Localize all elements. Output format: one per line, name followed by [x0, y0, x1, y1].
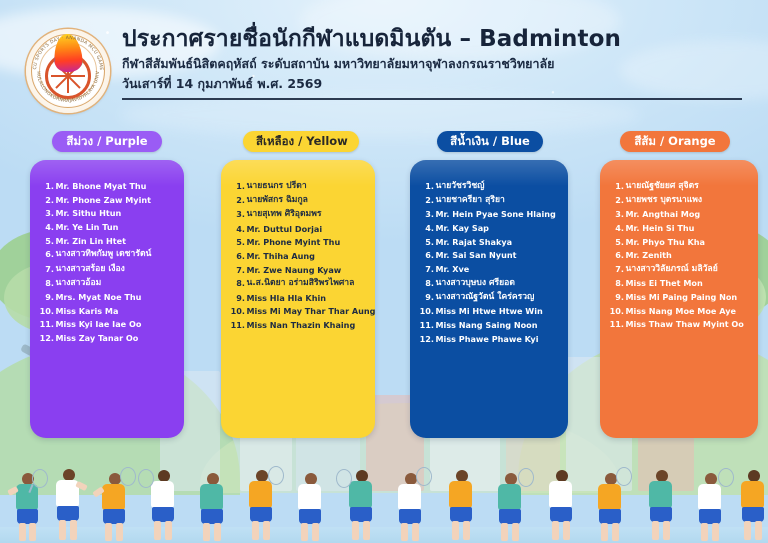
- member-name: Miss Zay Tanar Oo: [56, 334, 177, 342]
- member-name: นายพชร บุตรนาแพง: [626, 196, 751, 205]
- member-name: นางสาวบุษบง ศรียอด: [436, 279, 561, 288]
- team-member-list-blue: 1.นายวัชรวิชญ์2.นายชาครียา สุริยา3.Mr. H…: [410, 160, 568, 358]
- team-chip-yellow[interactable]: สีเหลือง / Yellow: [243, 131, 359, 152]
- member-row: 6.Mr. Thiha Aung: [229, 252, 367, 260]
- member-name: Mr. Thiha Aung: [247, 252, 368, 260]
- member-row: 9.Miss Mi Paing Paing Non: [608, 293, 750, 301]
- member-index: 3.: [38, 209, 54, 217]
- member-name: นางสาวณัฐวัตน์ ใคร่ครวญ: [436, 293, 561, 302]
- athlete-figure: [438, 469, 490, 541]
- member-row: 11.Miss Thaw Thaw Myint Oo: [608, 320, 750, 328]
- emblem-arc-text: MCU SPORTS DAY · ANANDA MCU GAMES MAHACH…: [26, 29, 110, 113]
- page-title: ประกาศรายชื่อนักกีฬาแบดมินตัน – Badminto…: [122, 26, 742, 53]
- member-index: 6.: [608, 251, 624, 259]
- member-row: 12.Miss Zay Tanar Oo: [38, 334, 176, 342]
- member-index: 10.: [418, 307, 434, 315]
- member-name: Mr. Bhone Myat Thu: [56, 182, 177, 190]
- member-index: 9.: [608, 293, 624, 301]
- member-name: Miss Nan Thazin Khaing: [247, 321, 368, 329]
- member-row: 5.Mr. Phyo Thu Kha: [608, 238, 750, 246]
- member-name: นายณัฐชัยยศ สุจิตร: [626, 182, 751, 191]
- member-index: 9.: [229, 294, 245, 302]
- member-name: Miss Mi Paing Paing Non: [626, 293, 751, 301]
- member-index: 2.: [229, 196, 245, 204]
- member-row: 3.Mr. Hein Pyae Sone Hlaing: [418, 210, 560, 218]
- member-index: 7.: [418, 265, 434, 273]
- member-index: 4.: [38, 223, 54, 231]
- member-name: น.ส.นิตยา อร่ามสิริพรไพศาล: [247, 279, 368, 288]
- member-index: 11.: [229, 321, 245, 329]
- member-row: 11.Miss Kyi Iae Iae Oo: [38, 320, 176, 328]
- athlete-figure: [238, 469, 290, 541]
- member-name: Miss Kyi Iae Iae Oo: [56, 320, 177, 328]
- member-row: 6.Mr. Zenith: [608, 251, 750, 259]
- member-index: 6.: [38, 250, 54, 258]
- member-name: Miss Nang Moe Moe Aye: [626, 307, 751, 315]
- member-index: 7.: [38, 265, 54, 273]
- member-name: Mr. Phyo Thu Kha: [626, 238, 751, 246]
- member-row: 2.นายชาครียา สุริยา: [418, 196, 560, 205]
- team-chip-blue[interactable]: สีน้ำเงิน / Blue: [437, 131, 543, 152]
- member-index: 6.: [229, 252, 245, 260]
- member-name: นางสาวทิพกัมพู เดชารัตน์: [56, 250, 177, 259]
- member-index: 12.: [38, 334, 54, 342]
- member-row: 12.Miss Phawe Phawe Kyi: [418, 335, 560, 343]
- member-name: Mr. Phone Myint Thu: [247, 238, 368, 246]
- member-row: 9.Miss Hla Hla Khin: [229, 294, 367, 302]
- member-index: 1.: [608, 182, 624, 190]
- poster-header: MCU SPORTS DAY · ANANDA MCU GAMES MAHACH…: [0, 0, 768, 120]
- member-name: นายชาครียา สุริยา: [436, 196, 561, 205]
- member-name: นายธนกร ปรีดา: [247, 182, 368, 191]
- member-name: Mr. Zwe Naung Kyaw: [247, 266, 368, 274]
- member-name: Mr. Phone Zaw Myint: [56, 196, 177, 204]
- member-row: 9.นางสาวณัฐวัตน์ ใคร่ครวญ: [418, 293, 560, 302]
- team-card-purple[interactable]: 1.Mr. Bhone Myat Thu2.Mr. Phone Zaw Myin…: [30, 160, 184, 438]
- member-row: 1.นายณัฐชัยยศ สุจิตร: [608, 182, 750, 191]
- athlete-figure: [388, 471, 440, 541]
- member-name: Miss Hla Hla Khin: [247, 294, 368, 302]
- member-row: 1.Mr. Bhone Myat Thu: [38, 182, 176, 190]
- athlete-figure: [588, 471, 640, 541]
- member-index: 4.: [229, 225, 245, 233]
- team-member-list-orange: 1.นายณัฐชัยยศ สุจิตร2.นายพชร บุตรนาแพง3.…: [600, 160, 758, 344]
- team-chip-purple[interactable]: สีม่วง / Purple: [52, 131, 162, 152]
- athlete-figure: [638, 469, 690, 541]
- member-index: 7.: [229, 266, 245, 274]
- athletes-illustration-band: [0, 457, 768, 543]
- team-chip-orange[interactable]: สีส้ม / Orange: [620, 131, 730, 152]
- member-row: 5.Mr. Phone Myint Thu: [229, 238, 367, 246]
- member-row: 8.นางสาวอ้อม: [38, 279, 176, 288]
- member-index: 10.: [38, 307, 54, 315]
- event-date: วันเสาร์ที่ 14 กุมภาพันธ์ พ.ศ. 2569: [122, 76, 742, 93]
- member-row: 4.Mr. Ye Lin Tun: [38, 223, 176, 231]
- member-name: Mrs. Myat Noe Thu: [56, 293, 177, 301]
- athlete-figure: [140, 469, 192, 541]
- member-name: นายวัชรวิชญ์: [436, 182, 561, 191]
- team-card-yellow[interactable]: 1.นายธนกร ปรีดา2.นายพัสกร ฉิมกูล3.นายสุเ…: [221, 160, 375, 438]
- member-row: 3.Mr. Angthai Mog: [608, 210, 750, 218]
- member-name: Mr. Sithu Htun: [56, 209, 177, 217]
- member-index: 8.: [418, 279, 434, 287]
- member-name: Mr. Ye Lin Tun: [56, 223, 177, 231]
- member-row: 10.Miss Karis Ma: [38, 307, 176, 315]
- member-row: 3.Mr. Sithu Htun: [38, 209, 176, 217]
- member-index: 6.: [418, 251, 434, 259]
- team-card-blue[interactable]: 1.นายวัชรวิชญ์2.นายชาครียา สุริยา3.Mr. H…: [410, 160, 568, 438]
- member-index: 8.: [608, 279, 624, 287]
- member-index: 3.: [229, 210, 245, 218]
- member-row: 7.นางสาวสร้อย เงือง: [38, 265, 176, 274]
- member-index: 9.: [38, 293, 54, 301]
- member-name: Mr. Hein Pyae Sone Hlaing: [436, 210, 561, 218]
- member-row: 11.Miss Nan Thazin Khaing: [229, 321, 367, 329]
- member-name: Mr. Hein Si Thu: [626, 224, 751, 232]
- member-row: 6.นางสาวทิพกัมพู เดชารัตน์: [38, 250, 176, 259]
- member-index: 12.: [418, 335, 434, 343]
- member-row: 8.นางสาวบุษบง ศรียอด: [418, 279, 560, 288]
- member-name: Mr. Zin Lin Htet: [56, 237, 177, 245]
- member-row: 1.นายวัชรวิชญ์: [418, 182, 560, 191]
- member-row: 2.นายพชร บุตรนาแพง: [608, 196, 750, 205]
- page-subtitle: กีฬาสีสัมพันธ์นิสิตคฤหัสถ์ ระดับสถาบัน ม…: [122, 56, 742, 73]
- member-name: นางสาวอ้อม: [56, 279, 177, 288]
- member-index: 4.: [608, 224, 624, 232]
- member-row: 11.Miss Nang Saing Noon: [418, 321, 560, 329]
- team-member-list-purple: 1.Mr. Bhone Myat Thu2.Mr. Phone Zaw Myin…: [30, 160, 184, 358]
- member-index: 1.: [229, 182, 245, 190]
- member-row: 6.Mr. Sai San Nyunt: [418, 251, 560, 259]
- header-text-block: ประกาศรายชื่อนักกีฬาแบดมินตัน – Badminto…: [122, 26, 742, 100]
- member-row: 2.นายพัสกร ฉิมกูล: [229, 196, 367, 205]
- member-index: 9.: [418, 293, 434, 301]
- member-index: 11.: [608, 320, 624, 328]
- athlete-figure: [190, 471, 242, 541]
- member-index: 7.: [608, 265, 624, 273]
- member-name: Mr. Zenith: [626, 251, 751, 259]
- member-row: 1.นายธนกร ปรีดา: [229, 182, 367, 191]
- member-index: 10.: [608, 307, 624, 315]
- member-index: 11.: [38, 320, 54, 328]
- member-row: 10.Miss Mi May Thar Thar Aung: [229, 307, 367, 315]
- member-index: 8.: [38, 279, 54, 287]
- member-row: 9.Mrs. Myat Noe Thu: [38, 293, 176, 301]
- member-name: Miss Thaw Thaw Myint Oo: [626, 320, 751, 328]
- member-name: Miss Ei Thet Mon: [626, 279, 751, 287]
- member-name: Miss Nang Saing Noon: [436, 321, 561, 329]
- member-index: 8.: [229, 279, 245, 287]
- member-index: 5.: [38, 237, 54, 245]
- athlete-figure: [92, 471, 144, 541]
- member-name: Mr. Sai San Nyunt: [436, 251, 561, 259]
- member-index: 4.: [418, 224, 434, 232]
- member-index: 10.: [229, 307, 245, 315]
- member-index: 3.: [608, 210, 624, 218]
- member-name: Mr. Kay Sap: [436, 224, 561, 232]
- member-index: 5.: [418, 238, 434, 246]
- team-card-orange[interactable]: 1.นายณัฐชัยยศ สุจิตร2.นายพชร บุตรนาแพง3.…: [600, 160, 758, 438]
- header-divider: [122, 98, 742, 100]
- member-row: 2.Mr. Phone Zaw Myint: [38, 196, 176, 204]
- member-index: 1.: [38, 182, 54, 190]
- member-name: นายสุเทพ ศิริอุดมพร: [247, 210, 368, 219]
- member-row: 8.Miss Ei Thet Mon: [608, 279, 750, 287]
- athlete-figure: [538, 469, 590, 541]
- university-emblem-icon: MCU SPORTS DAY · ANANDA MCU GAMES MAHACH…: [26, 29, 110, 113]
- member-row: 4.Mr. Hein Si Thu: [608, 224, 750, 232]
- member-row: 10.Miss Mi Htwe Htwe Win: [418, 307, 560, 315]
- member-row: 10.Miss Nang Moe Moe Aye: [608, 307, 750, 315]
- poster-canvas: MCU SPORTS DAY · ANANDA MCU GAMES MAHACH…: [0, 0, 768, 543]
- member-name: Mr. Angthai Mog: [626, 210, 751, 218]
- member-name: Mr. Rajat Shakya: [436, 238, 561, 246]
- member-row: 5.Mr. Zin Lin Htet: [38, 237, 176, 245]
- member-index: 11.: [418, 321, 434, 329]
- member-name: นางสาวสร้อย เงือง: [56, 265, 177, 274]
- athlete-figure: [288, 471, 340, 541]
- member-name: นายพัสกร ฉิมกูล: [247, 196, 368, 205]
- member-name: นางสาววิลัยภรณ์ มลิวัลย์: [626, 265, 751, 274]
- member-index: 5.: [229, 238, 245, 246]
- member-name: Miss Karis Ma: [56, 307, 177, 315]
- member-row: 7.Mr. Zwe Naung Kyaw: [229, 266, 367, 274]
- member-index: 2.: [38, 196, 54, 204]
- member-index: 1.: [418, 182, 434, 190]
- member-row: 4.Mr. Kay Sap: [418, 224, 560, 232]
- member-row: 5.Mr. Rajat Shakya: [418, 238, 560, 246]
- member-row: 4.Mr. Duttul Dorjai: [229, 225, 367, 233]
- member-name: Mr. Duttul Dorjai: [247, 225, 368, 233]
- member-row: 7.นางสาววิลัยภรณ์ มลิวัลย์: [608, 265, 750, 274]
- member-row: 8.น.ส.นิตยา อร่ามสิริพรไพศาล: [229, 279, 367, 288]
- member-name: Miss Mi Htwe Htwe Win: [436, 307, 561, 315]
- member-name: Miss Phawe Phawe Kyi: [436, 335, 561, 343]
- member-row: 7.Mr. Xve: [418, 265, 560, 273]
- athlete-figure: [338, 469, 390, 541]
- team-member-list-yellow: 1.นายธนกร ปรีดา2.นายพัสกร ฉิมกูล3.นายสุเ…: [221, 160, 375, 345]
- member-index: 2.: [608, 196, 624, 204]
- member-name: Mr. Xve: [436, 265, 561, 273]
- athlete-figure: [488, 471, 540, 541]
- member-index: 3.: [418, 210, 434, 218]
- member-index: 2.: [418, 196, 434, 204]
- member-row: 3.นายสุเทพ ศิริอุดมพร: [229, 210, 367, 219]
- athlete-figure: [730, 469, 768, 541]
- member-name: Miss Mi May Thar Thar Aung: [247, 307, 376, 315]
- athlete-figure: [46, 469, 96, 541]
- member-index: 5.: [608, 238, 624, 246]
- svg-text:MCU SPORTS DAY · ANANDA MCU GA: MCU SPORTS DAY · ANANDA MCU GAMES: [26, 29, 104, 71]
